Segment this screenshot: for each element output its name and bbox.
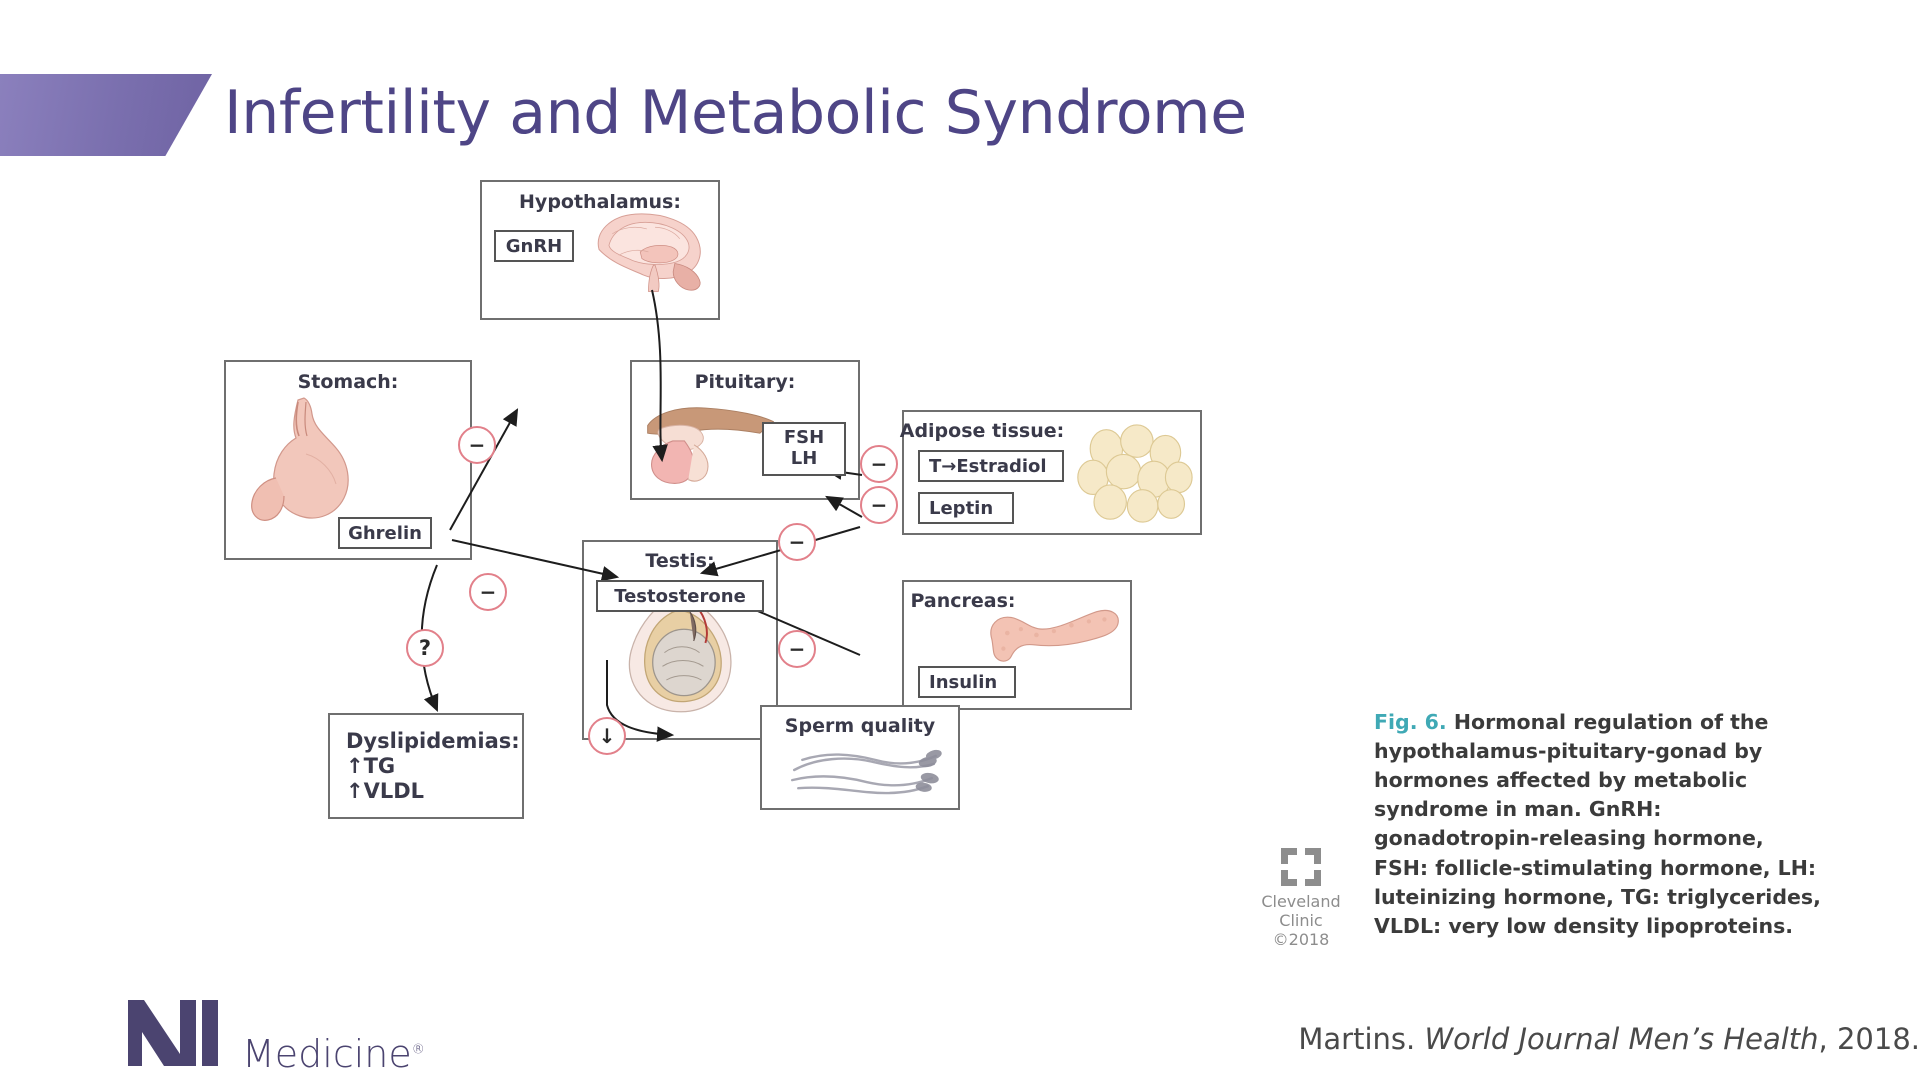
lh-text: LH [791,449,818,470]
insulin-label: Insulin [918,666,1016,698]
figure-number: Fig. 6. [1374,710,1447,734]
connector-lines [262,205,1362,945]
sign-ghrelin-to-testosterone: − [469,573,507,611]
citation-author: Martins. [1298,1022,1424,1056]
fsh-text: FSH [784,428,824,449]
gnrh-label: GnRH [494,230,574,262]
estradiol-label: T→Estradiol [918,450,1064,482]
nm-monogram-icon [128,1000,232,1066]
slide-root: Infertility and Metabolic Syndrome [0,0,1920,1080]
sign-testis-to-sperm: ↓ [588,717,626,755]
sign-ghrelin-to-dyslipidemias: ? [406,629,444,667]
fsh-lh-label: FSH LH [762,422,846,476]
figure-caption: Fig. 6. Hormonal regulation of the hypot… [1374,708,1822,941]
citation-journal: World Journal Men’s Health [1424,1022,1818,1056]
sign-leptin-to-testosterone: − [778,523,816,561]
figure-diagram: Hypothalamus: GnRH Stomach: [262,205,1362,945]
sign-estradiol-to-fsh: − [860,445,898,483]
sign-leptin-to-lh: − [860,486,898,524]
registered-mark: ® [412,1042,425,1057]
figure-caption-text: Hormonal regulation of the hypothalamus-… [1374,710,1821,938]
sign-insulin-to-testosterone: − [778,630,816,668]
nm-logo-word-text: Medicine [242,1032,412,1076]
nm-logo-wordmark: Medicine® [242,1036,425,1072]
citation-year: , 2018. [1819,1022,1920,1056]
testosterone-label: Testosterone [596,580,764,612]
sign-ghrelin-to-gnrh: − [458,426,496,464]
northwestern-medicine-logo: Medicine® [128,1000,425,1066]
ghrelin-label: Ghrelin [338,517,432,549]
title-accent-shape [0,74,212,156]
source-citation: Martins. World Journal Men’s Health, 201… [1298,1022,1920,1056]
page-title: Infertility and Metabolic Syndrome [224,78,1247,148]
leptin-label: Leptin [918,492,1014,524]
